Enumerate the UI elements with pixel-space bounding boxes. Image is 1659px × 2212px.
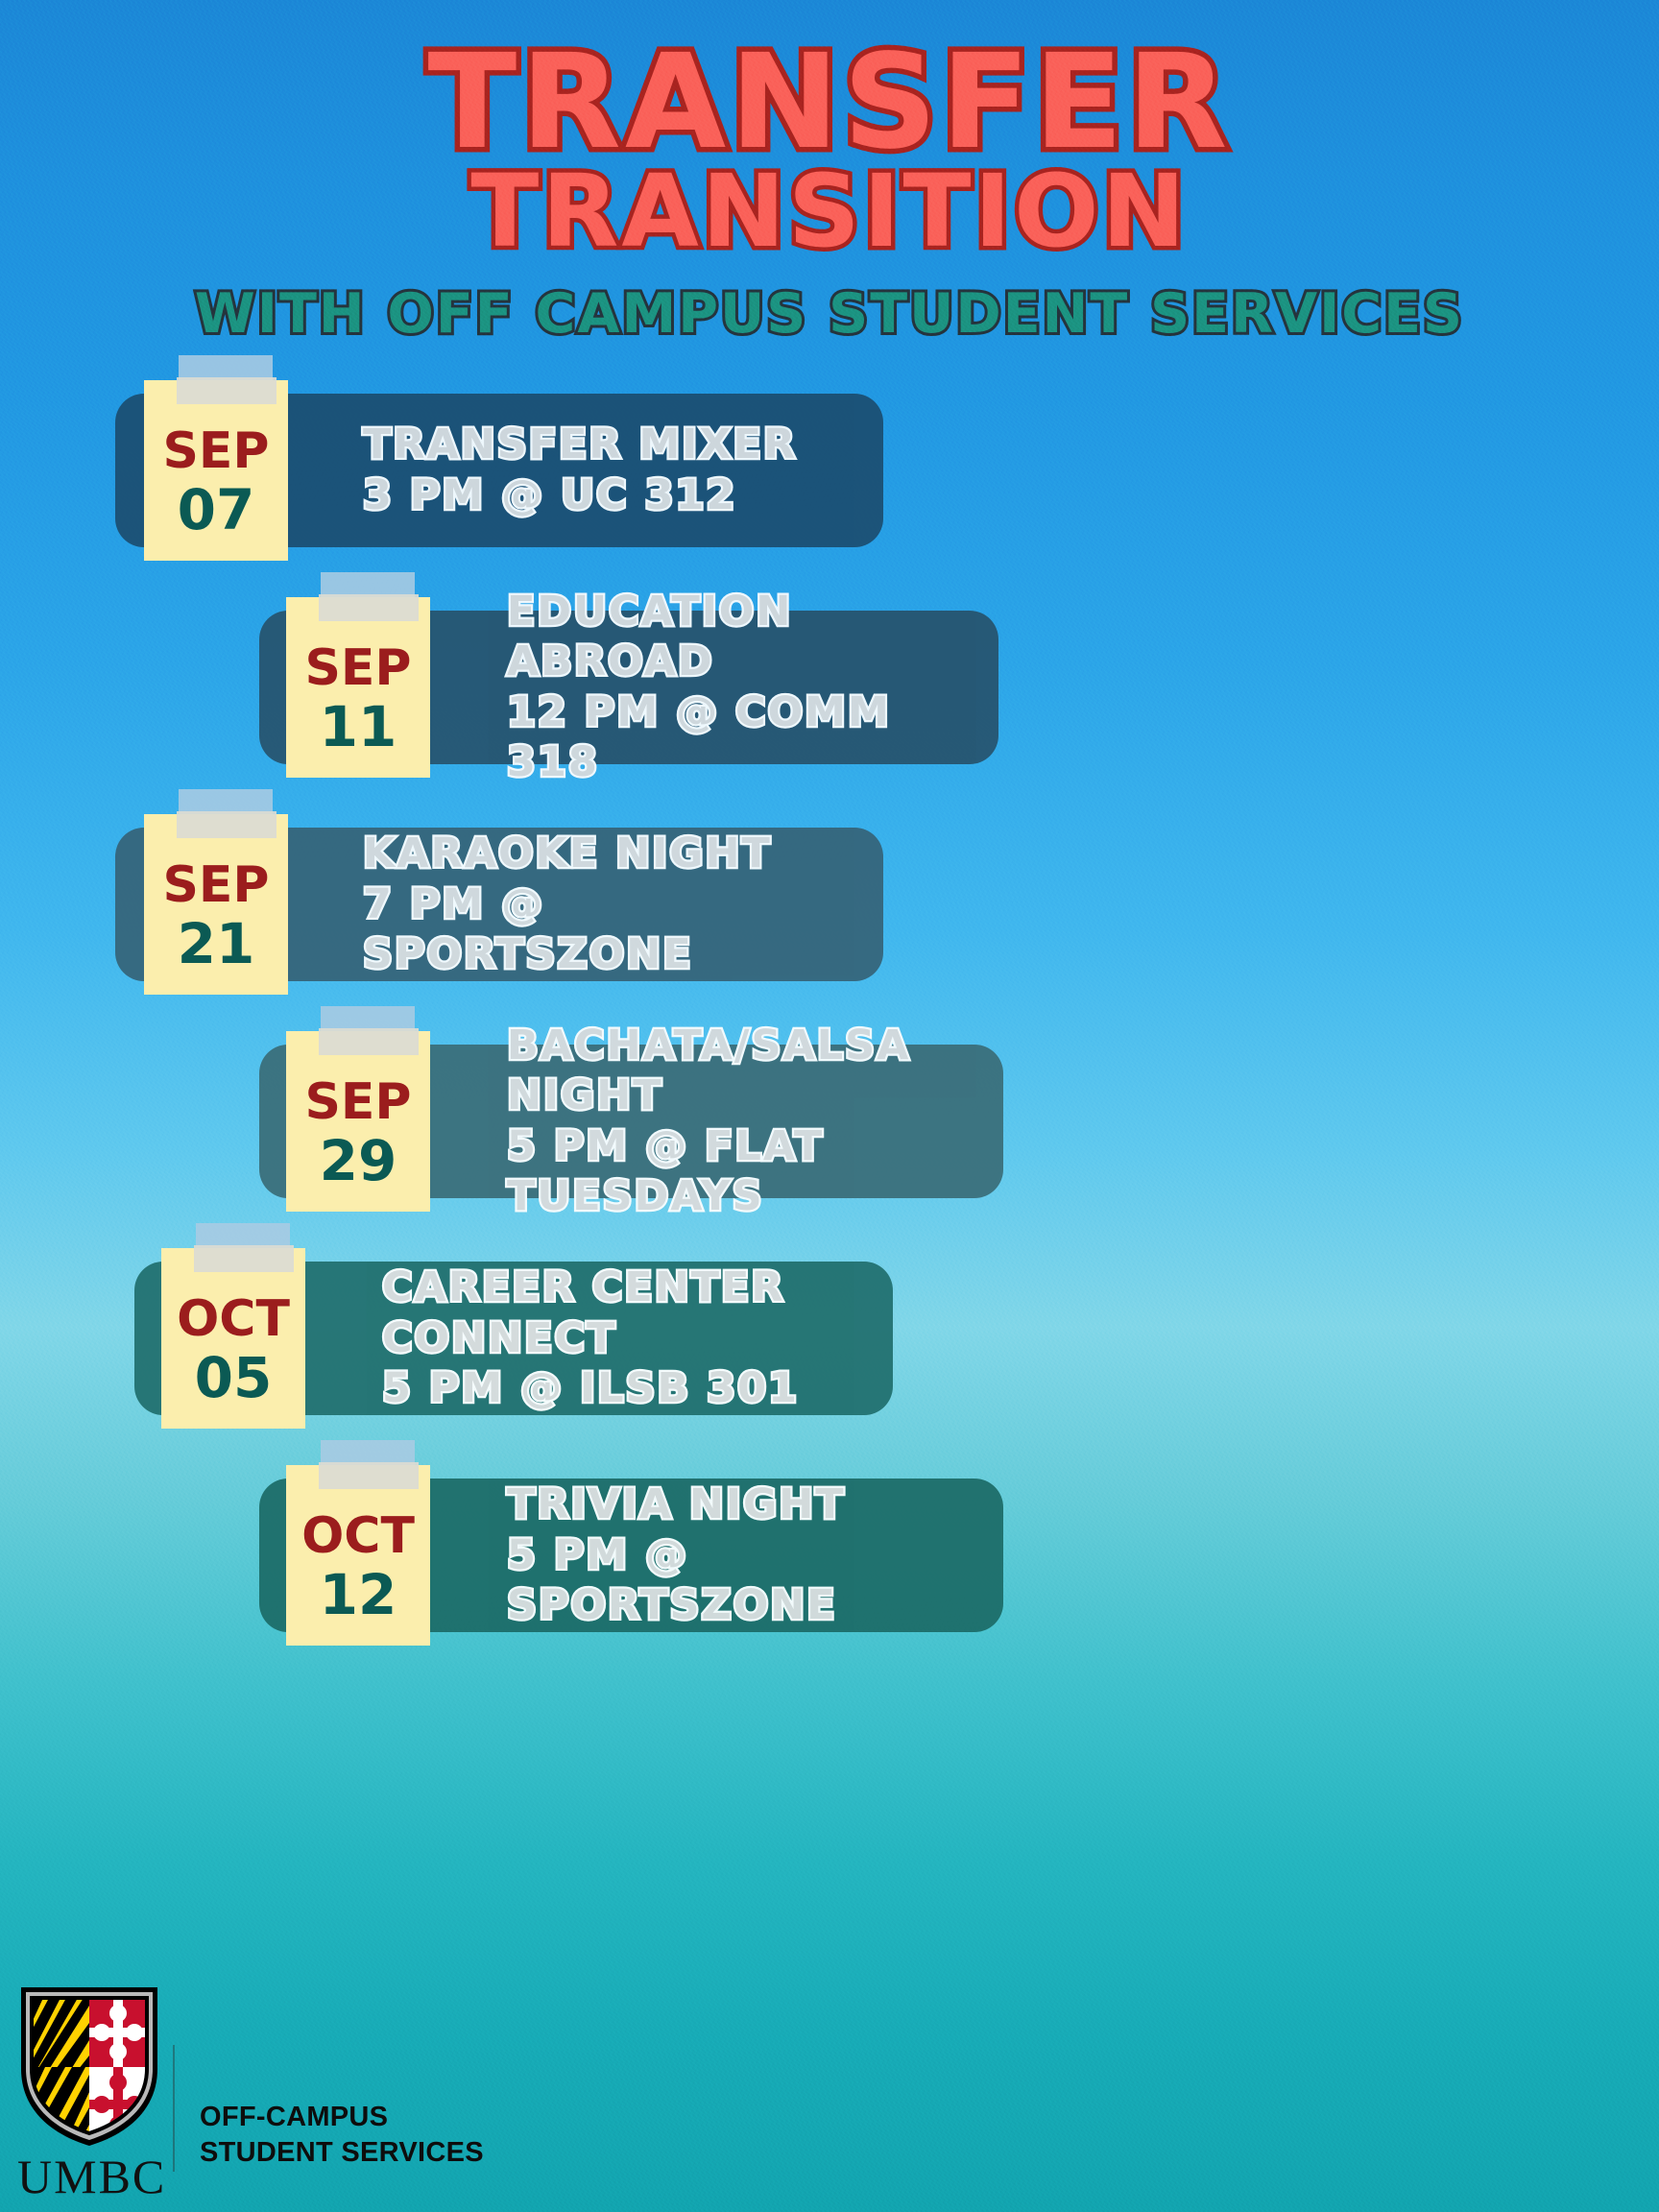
event-row: BACHATA/SALSA NIGHT 5 PM @ FLAT TUESDAYS… [0, 1031, 1659, 1212]
calendar-day: 07 [178, 482, 255, 538]
event-text: EDUCATION ABROAD 12 PM @ COMM 318 [507, 587, 998, 788]
event-text: TRIVIA NIGHT 5 PM @ SPORTSZONE [507, 1479, 1003, 1630]
tape-lower [177, 377, 276, 404]
event-text: BACHATA/SALSA NIGHT 5 PM @ FLAT TUESDAYS [507, 1021, 1003, 1222]
poster-tagline: WITH OFF CAMPUS STUDENT SERVICES [0, 282, 1659, 346]
calendar-month: SEP [304, 1077, 411, 1127]
event-schedule-list: TRANSFER MIXER 3 PM @ UC 312SEP07EDUCATI… [0, 380, 1659, 1646]
calendar-date-card: OCT05 [161, 1248, 305, 1429]
umbc-maryland-shield-icon [17, 1984, 161, 2146]
calendar-day: 29 [320, 1133, 397, 1189]
tape-lower [319, 594, 419, 621]
umbc-logo: UMBC [17, 1984, 161, 2204]
footer-branding: UMBC OFF-CAMPUS STUDENT SERVICES [17, 1984, 484, 2204]
tape-strip-icon [177, 789, 276, 839]
calendar-date-card: SEP21 [144, 814, 288, 995]
event-text: TRANSFER MIXER 3 PM @ UC 312 [363, 420, 797, 520]
event-row: TRIVIA NIGHT 5 PM @ SPORTSZONEOCT12 [0, 1465, 1659, 1646]
tape-lower [177, 811, 276, 838]
umbc-wordmark: UMBC [17, 2149, 161, 2204]
tape-strip-icon [194, 1223, 294, 1273]
department-name: OFF-CAMPUS STUDENT SERVICES [200, 2100, 484, 2172]
tape-strip-icon [319, 572, 419, 622]
event-row: CAREER CENTER CONNECT 5 PM @ ILSB 301OCT… [0, 1248, 1659, 1429]
event-text: CAREER CENTER CONNECT 5 PM @ ILSB 301 [382, 1262, 893, 1413]
calendar-month: SEP [162, 426, 269, 476]
tape-lower [319, 1028, 419, 1055]
tape-strip-icon [177, 355, 276, 405]
calendar-date-card: SEP11 [286, 597, 430, 778]
tape-strip-icon [319, 1440, 419, 1490]
poster-canvas: TRANSFER TRANSITION WITH OFF CAMPUS STUD… [0, 0, 1659, 2212]
calendar-month: SEP [304, 643, 411, 693]
event-row: EDUCATION ABROAD 12 PM @ COMM 318SEP11 [0, 597, 1659, 778]
poster-title-line1: TRANSFER [0, 42, 1659, 165]
calendar-month: SEP [162, 860, 269, 910]
calendar-day: 05 [195, 1350, 273, 1406]
calendar-day: 11 [320, 699, 397, 755]
calendar-date-card: OCT12 [286, 1465, 430, 1646]
tape-lower [319, 1462, 419, 1489]
event-row: KARAOKE NIGHT 7 PM @ SPORTSZONESEP21 [0, 814, 1659, 995]
calendar-month: OCT [301, 1511, 415, 1561]
footer-divider [173, 2045, 175, 2172]
tape-lower [194, 1245, 294, 1272]
calendar-month: OCT [177, 1294, 290, 1344]
poster-title-line2: TRANSITION [0, 161, 1659, 261]
tape-strip-icon [319, 1006, 419, 1056]
poster-header: TRANSFER TRANSITION WITH OFF CAMPUS STUD… [0, 0, 1659, 346]
calendar-day: 12 [320, 1567, 397, 1623]
calendar-date-card: SEP07 [144, 380, 288, 561]
event-text: KARAOKE NIGHT 7 PM @ SPORTSZONE [363, 829, 883, 979]
calendar-date-card: SEP29 [286, 1031, 430, 1212]
calendar-day: 21 [178, 916, 255, 972]
event-row: TRANSFER MIXER 3 PM @ UC 312SEP07 [0, 380, 1659, 561]
